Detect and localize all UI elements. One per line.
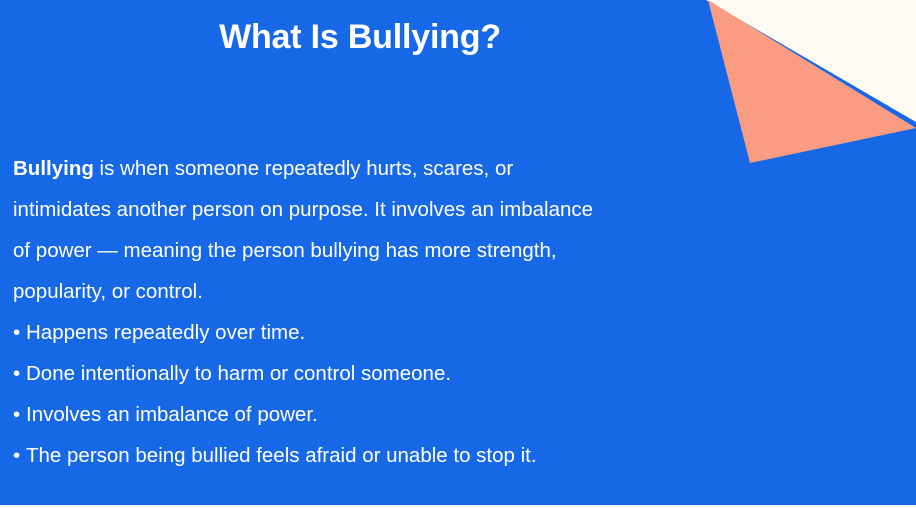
page-title: What Is Bullying? (0, 14, 720, 60)
bullet-dot-icon: • (13, 435, 26, 476)
bullet-dot-icon: • (13, 353, 26, 394)
list-item: •Happens repeatedly over time. (13, 312, 653, 353)
bullet-dot-icon: • (13, 312, 26, 353)
slide-body: Bullying is when someone repeatedly hurt… (13, 148, 653, 476)
bullet-dot-icon: • (13, 394, 26, 435)
slide-canvas: What Is Bullying? Bullying is when someo… (0, 0, 916, 508)
list-item-label: Happens repeatedly over time. (26, 321, 305, 344)
characteristics-list: •Happens repeatedly over time. •Done int… (13, 312, 653, 476)
list-item: •Involves an imbalance of power. (13, 394, 653, 435)
list-item-label: Involves an imbalance of power. (26, 403, 318, 426)
definition-text: is when someone repeatedly hurts, scares… (13, 157, 593, 303)
lead-term: Bullying (13, 157, 94, 180)
list-item: •The person being bullied feels afraid o… (13, 435, 653, 476)
list-item: •Done intentionally to harm or control s… (13, 353, 653, 394)
list-item-label: Done intentionally to harm or control so… (26, 362, 451, 385)
definition-paragraph: Bullying is when someone repeatedly hurt… (13, 148, 613, 312)
list-item-label: The person being bullied feels afraid or… (26, 444, 537, 467)
